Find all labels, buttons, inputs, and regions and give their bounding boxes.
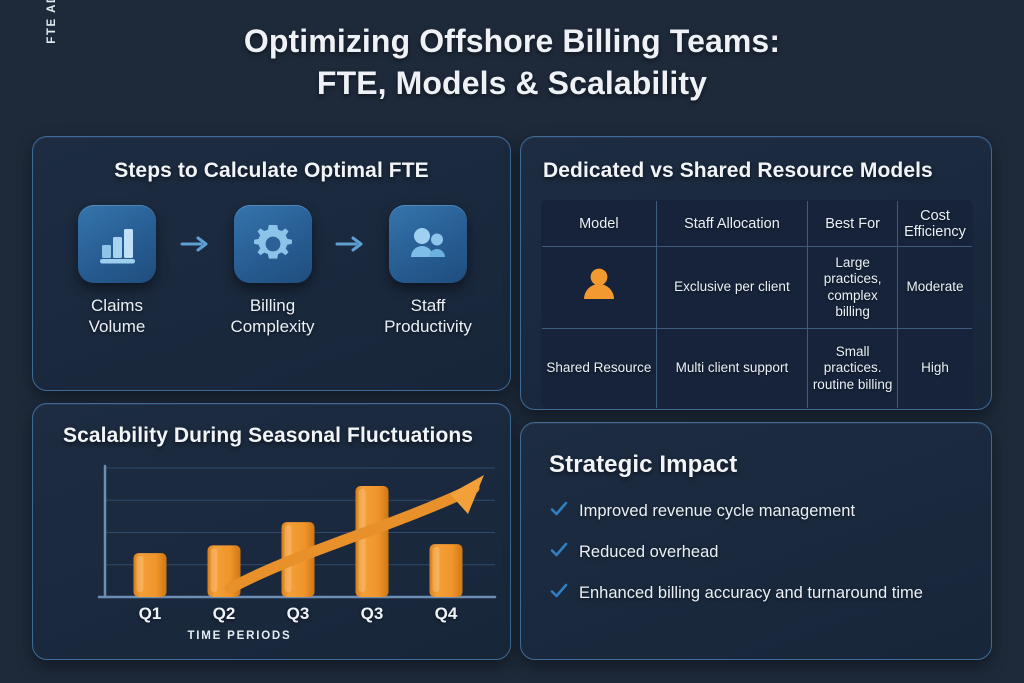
chart-x-tick-label: Q3 [342,604,402,624]
step-arrow-1 [178,235,212,253]
chart-panel-title: Scalability During Seasonal Fluctuations [63,424,473,448]
check-icon [549,540,573,565]
people-icon [405,221,451,267]
chart-x-tick-label: Q2 [194,604,254,624]
chart-x-tick-label: Q1 [120,604,180,624]
th-best-for: Best For [808,201,898,247]
cell-model-dedicated [542,247,657,329]
list-item-label: Enhanced billing accuracy and turnaround… [579,584,923,603]
th-cost-efficiency: Cost Efficiency [898,201,973,247]
arrow-right-icon [335,235,365,253]
step-tile-1 [78,205,156,283]
cell-best-for-dedicated: Large practices, complex billing [808,247,898,329]
step-label-3-line1: Staff [411,296,446,315]
chart-x-axis-label: TIME PERIODS [0,630,479,642]
title-line-1: Optimizing Offshore Billing Teams: [0,20,1024,62]
steps-panel-title: Steps to Calculate Optimal FTE [33,159,510,183]
step-label-3-line2: Productivity [384,317,472,336]
list-item-label: Reduced overhead [579,543,718,562]
person-icon [577,263,621,307]
table-row: Shared Resource Multi client support Sma… [542,329,973,409]
th-staff-allocation: Staff Allocation [656,201,807,247]
chart-x-tick-label: Q4 [416,604,476,624]
check-icon [549,581,573,606]
list-item: Reduced overhead [549,540,969,565]
arrow-right-icon [180,235,210,253]
bar-chart-icon [94,221,140,267]
models-panel: Dedicated vs Shared Resource Models Mode… [520,136,992,410]
models-table-head: Model Staff Allocation Best For Cost Eff… [542,201,973,247]
step-label-1-line2: Volume [89,317,146,336]
page-title: Optimizing Offshore Billing Teams: FTE, … [0,20,1024,104]
step-label-3: Staff Productivity [384,296,472,337]
list-item: Improved revenue cycle management [549,499,969,524]
models-table-body: Exclusive per client Large practices, co… [542,247,973,409]
step-label-1: Claims Volume [89,296,146,337]
models-table: Model Staff Allocation Best For Cost Eff… [541,200,973,409]
step-label-2-line2: Complexity [230,317,314,336]
cell-cost-efficiency-shared: High [898,329,973,409]
chart-x-tick-label: Q3 [268,604,328,624]
step-billing-complexity: Billing Complexity [215,205,331,337]
steps-row: Claims Volume Billing [59,205,486,370]
check-icon [549,499,573,524]
gear-icon [250,221,296,267]
chart-y-axis-label: FTE ADJUSTMENT [46,0,64,56]
impact-list: Improved revenue cycle managementReduced… [549,499,969,622]
table-header-row: Model Staff Allocation Best For Cost Eff… [542,201,973,247]
impact-panel-title: Strategic Impact [549,451,737,479]
th-model: Model [542,201,657,247]
models-panel-title: Dedicated vs Shared Resource Models [543,159,933,183]
step-tile-3 [389,205,467,283]
cell-cost-efficiency-dedicated: Moderate [898,247,973,329]
cell-staff-allocation-shared: Multi client support [656,329,807,409]
cell-model-shared: Shared Resource [542,329,657,409]
infographic-canvas: Optimizing Offshore Billing Teams: FTE, … [0,0,1024,683]
step-staff-productivity: Staff Productivity [370,205,486,337]
steps-panel: Steps to Calculate Optimal FTE Claims Vo… [32,136,511,391]
step-label-2: Billing Complexity [230,296,314,337]
impact-panel: Strategic Impact Improved revenue cycle … [520,422,992,660]
step-arrow-2 [333,235,367,253]
table-row: Exclusive per client Large practices, co… [542,247,973,329]
cell-staff-allocation-dedicated: Exclusive per client [656,247,807,329]
step-label-2-line1: Billing [250,296,295,315]
list-item-label: Improved revenue cycle management [579,502,855,521]
cell-best-for-shared: Small practices. routine billing [808,329,898,409]
step-label-1-line1: Claims [91,296,143,315]
step-tile-2 [234,205,312,283]
step-claims-volume: Claims Volume [59,205,175,337]
title-line-2: FTE, Models & Scalability [0,62,1024,104]
list-item: Enhanced billing accuracy and turnaround… [549,581,969,606]
